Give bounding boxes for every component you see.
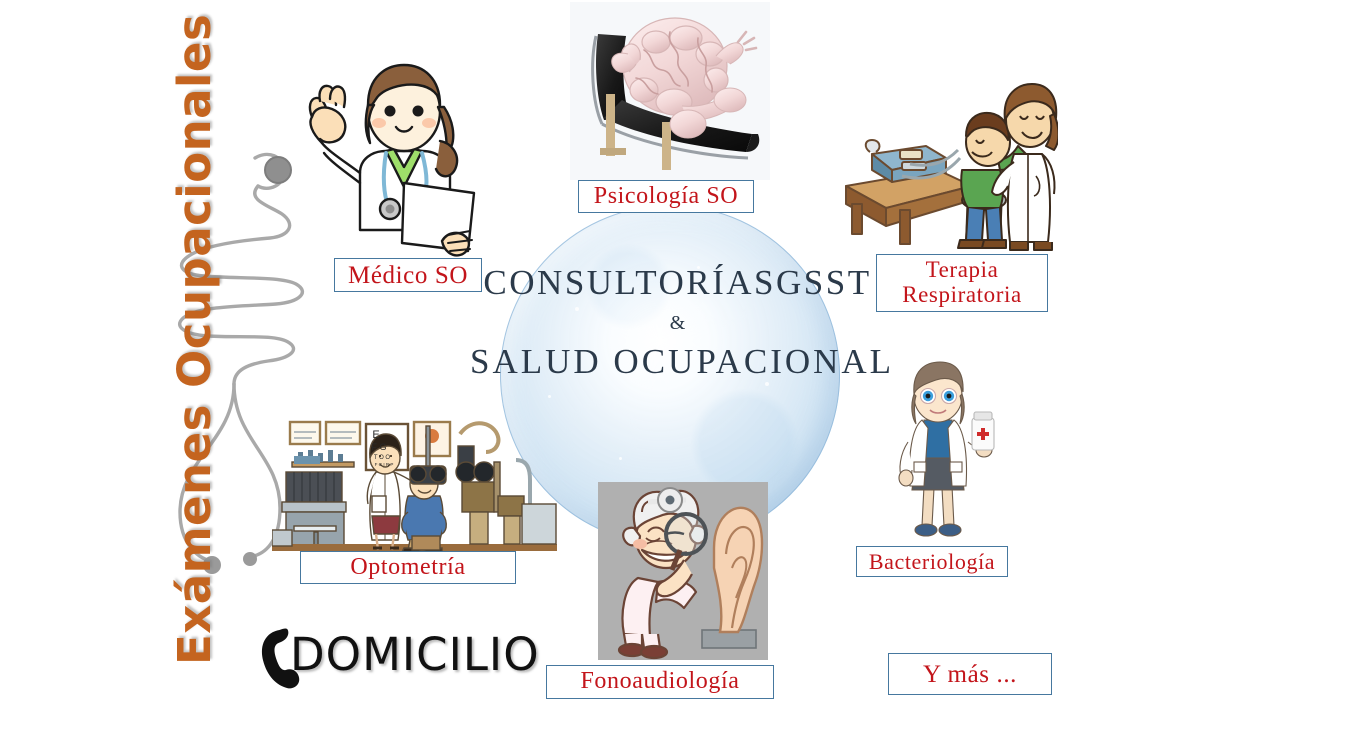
- label-optometria[interactable]: Optometría: [300, 551, 516, 584]
- brain-on-couch-illustration: [570, 2, 770, 180]
- eye-chart-row-1: E: [372, 429, 379, 441]
- ear-exam-doctor-illustration: [598, 482, 768, 660]
- poster-canvas: Exámenes Ocupacionales CONSULTORÍASGSST …: [0, 0, 1370, 730]
- domicilio-label: DOMICILIO: [290, 628, 540, 681]
- label-terapia-line-2: Respiratoria: [902, 283, 1022, 308]
- eye-chart-row-2: F G: [372, 442, 387, 452]
- label-bacteriologia[interactable]: Bacteriología: [856, 546, 1008, 577]
- vertical-headline: Exámenes Ocupacionales: [160, 65, 230, 665]
- label-y-mas[interactable]: Y más ...: [888, 653, 1052, 695]
- respiratory-therapy-illustration: [842, 58, 1058, 254]
- label-medico-so-text: Médico SO: [348, 262, 468, 289]
- label-medico-so[interactable]: Médico SO: [334, 258, 482, 292]
- label-psicologia-so-text: Psicología SO: [594, 184, 738, 210]
- eye-chart-row-4: F G I R P: [375, 462, 394, 467]
- label-fonoaudiologia[interactable]: Fonoaudiología: [546, 665, 774, 699]
- label-y-mas-text: Y más ...: [923, 661, 1017, 688]
- label-terapia-line-1: Terapia: [926, 258, 999, 283]
- eye-chart-row-3: T O O: [374, 455, 391, 461]
- label-fonoaudiologia-text: Fonoaudiología: [580, 669, 739, 695]
- label-bacteriologia-text: Bacteriología: [869, 550, 995, 574]
- doctor-waving-illustration: [282, 55, 497, 270]
- optometry-clinic-illustration: E F G T O O F G I R P: [272, 400, 557, 555]
- domicilio-group: DOMICILIO: [258, 618, 513, 693]
- label-psicologia-so[interactable]: Psicología SO: [578, 180, 754, 213]
- lab-technician-illustration: [872, 358, 1004, 548]
- label-terapia-respiratoria[interactable]: Terapia Respiratoria: [876, 254, 1048, 312]
- label-optometria-text: Optometría: [350, 555, 465, 581]
